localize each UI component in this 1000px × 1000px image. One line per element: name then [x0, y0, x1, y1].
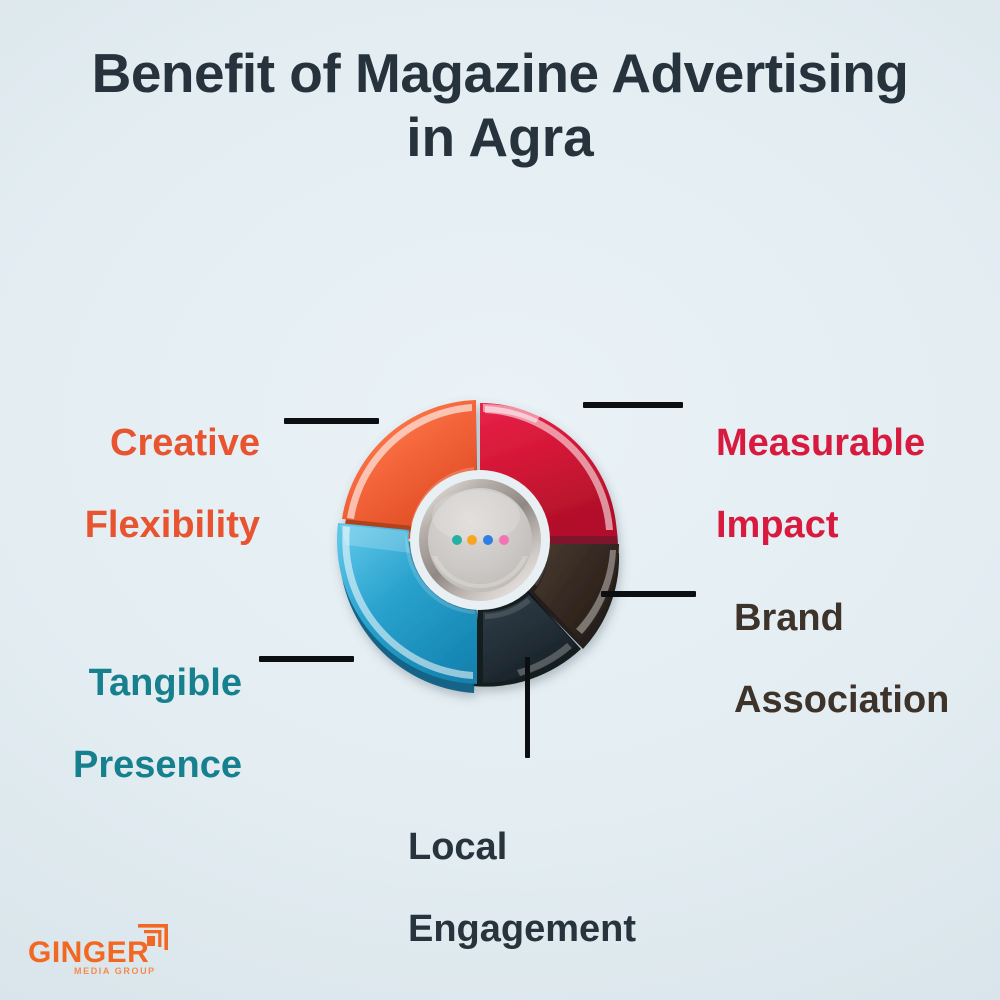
logo-wordmark: GINGER — [28, 938, 149, 968]
label-creative-flexibility[interactable]: Creative Flexibility — [85, 382, 260, 587]
leader-line-brand-association — [601, 591, 696, 597]
leader-line-creative-flexibility — [284, 418, 379, 424]
page-title-line-1: Benefit of Magazine Advertising — [14, 42, 986, 106]
label-creative-flexibility-line-1: Creative — [85, 423, 260, 464]
infographic-poster: Benefit of Magazine Advertising in Agra — [0, 0, 1000, 1000]
brand-logo[interactable]: GINGER MEDIA GROUP — [28, 922, 218, 980]
dot-amber-icon — [467, 535, 477, 545]
label-local-engagement-line-1: Local — [408, 827, 636, 868]
dot-teal-icon — [452, 535, 462, 545]
label-brand-association-line-2: Association — [734, 680, 949, 721]
dot-pink-icon — [499, 535, 509, 545]
label-measurable-impact-line-2: Impact — [716, 505, 925, 546]
donut-chart-svg — [280, 340, 680, 740]
page-title-line-2: in Agra — [14, 106, 986, 170]
dot-blue-icon — [483, 535, 493, 545]
label-local-engagement[interactable]: Local Engagement — [408, 786, 636, 991]
label-local-engagement-line-2: Engagement — [408, 909, 636, 950]
logo-tagline: MEDIA GROUP — [74, 967, 156, 976]
label-measurable-impact-line-1: Measurable — [716, 423, 925, 464]
label-tangible-presence[interactable]: Tangible Presence — [73, 622, 242, 827]
label-brand-association-line-1: Brand — [734, 598, 949, 639]
label-tangible-presence-line-1: Tangible — [73, 663, 242, 704]
leader-line-measurable-impact — [583, 402, 683, 408]
leader-line-local-engagement — [525, 657, 530, 758]
leader-line-tangible-presence — [259, 656, 354, 662]
label-brand-association[interactable]: Brand Association — [734, 557, 949, 762]
page-title: Benefit of Magazine Advertising in Agra — [0, 42, 1000, 170]
donut-chart — [280, 340, 680, 740]
label-creative-flexibility-line-2: Flexibility — [85, 505, 260, 546]
center-hub — [410, 470, 550, 610]
label-tangible-presence-line-2: Presence — [73, 745, 242, 786]
